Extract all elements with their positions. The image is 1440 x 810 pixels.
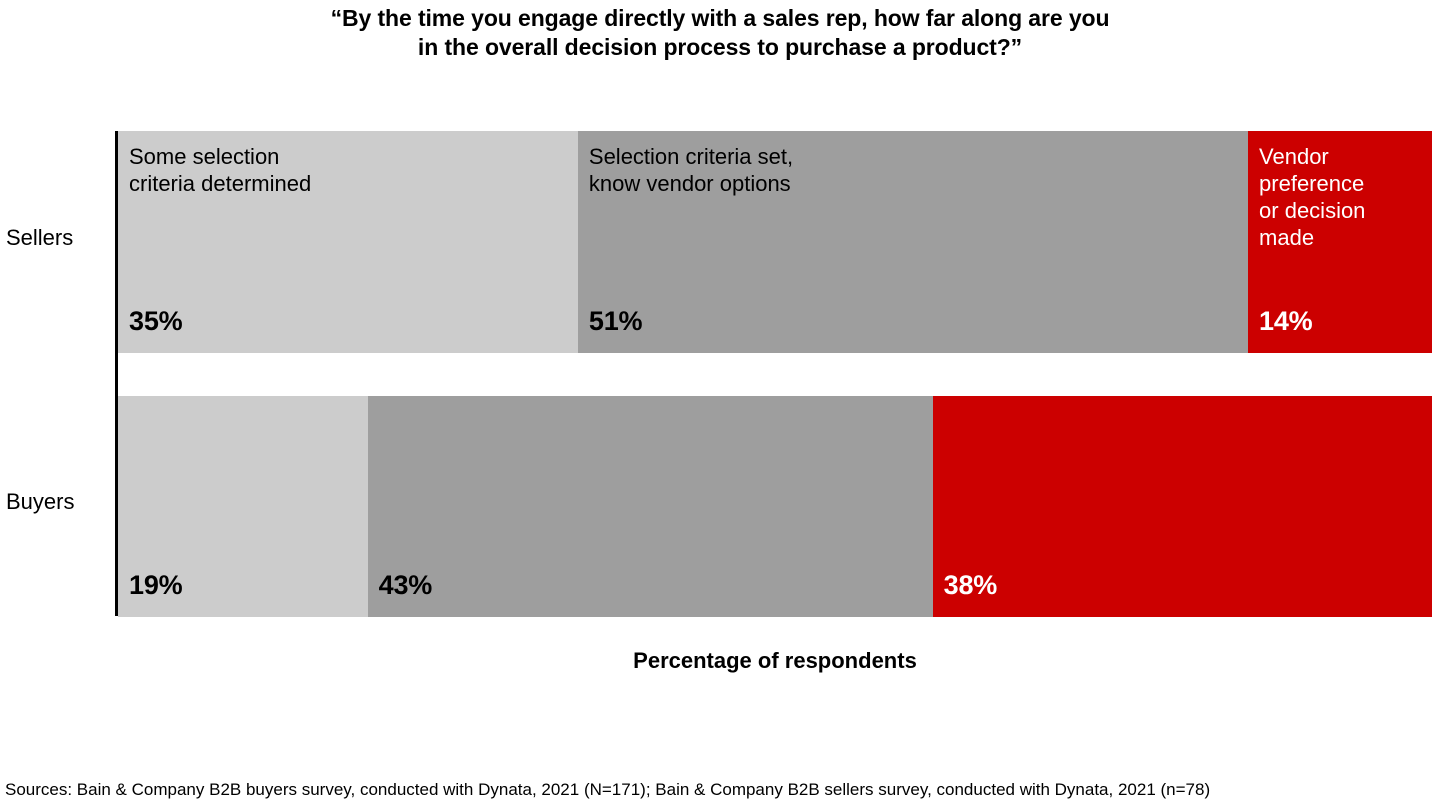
bar-segment-buyers-stage3[interactable]: 38% [933, 396, 1432, 617]
bar-segment-buyers-stage1[interactable]: 19% [118, 396, 368, 617]
x-axis-title: Percentage of respondents [118, 648, 1432, 674]
segment-description-stage3: Vendor preference or decision made [1259, 143, 1426, 251]
segment-value-buyers-stage2: 43% [379, 570, 432, 600]
bar-segment-sellers-stage1[interactable]: Some selection criteria determined 35% [118, 131, 578, 353]
segment-value-sellers-stage2: 51% [589, 306, 642, 336]
bar-segment-buyers-stage2[interactable]: 43% [368, 396, 933, 617]
source-note: Sources: Bain & Company B2B buyers surve… [5, 779, 1435, 800]
segment-value-sellers-stage3: 14% [1259, 306, 1312, 336]
segment-value-buyers-stage1: 19% [129, 570, 182, 600]
bar-segment-sellers-stage2[interactable]: Selection criteria set, know vendor opti… [578, 131, 1248, 353]
segment-description-stage1: Some selection criteria determined [129, 143, 572, 197]
bar-segment-sellers-stage3[interactable]: Vendor preference or decision made 14% [1248, 131, 1432, 353]
category-label-buyers: Buyers [6, 489, 110, 515]
segment-description-stage2: Selection criteria set, know vendor opti… [589, 143, 1242, 197]
category-label-sellers: Sellers [6, 225, 110, 251]
chart-plot-area: Sellers Buyers Some selection criteria d… [0, 0, 1440, 810]
segment-value-sellers-stage1: 35% [129, 306, 182, 336]
segment-value-buyers-stage3: 38% [944, 570, 997, 600]
